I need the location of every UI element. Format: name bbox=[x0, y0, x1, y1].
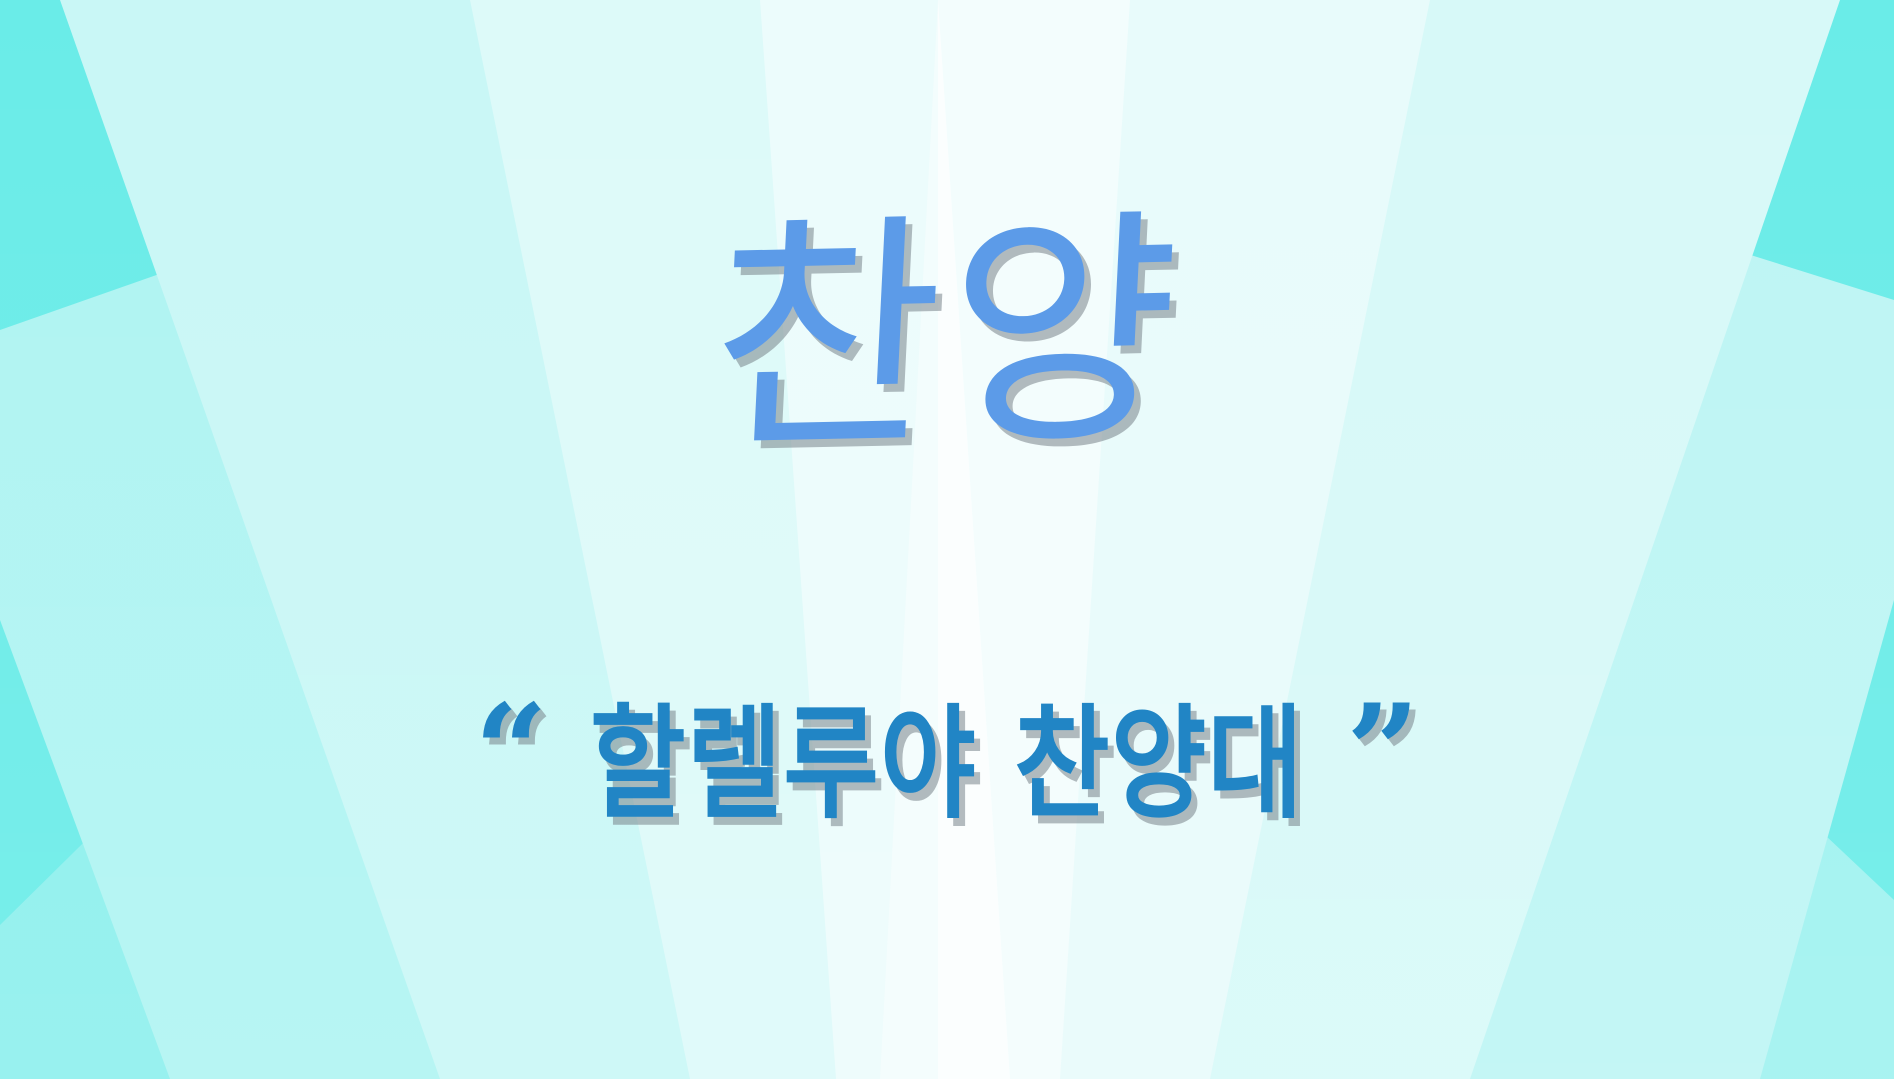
page-title: 찬양 bbox=[705, 203, 1188, 468]
title-block: 찬양 bbox=[0, 208, 1894, 463]
subtitle-text: 할렐루야 찬양대 bbox=[590, 692, 1304, 837]
subtitle-block: “ 할렐루야 찬양대 ” bbox=[0, 700, 1894, 828]
quote-close-icon: ” bbox=[1346, 688, 1420, 816]
title-slide: 찬양 “ 할렐루야 찬양대 ” bbox=[0, 0, 1894, 1079]
quote-open-icon: “ bbox=[474, 688, 548, 816]
slide-content: 찬양 “ 할렐루야 찬양대 ” bbox=[0, 0, 1894, 1079]
